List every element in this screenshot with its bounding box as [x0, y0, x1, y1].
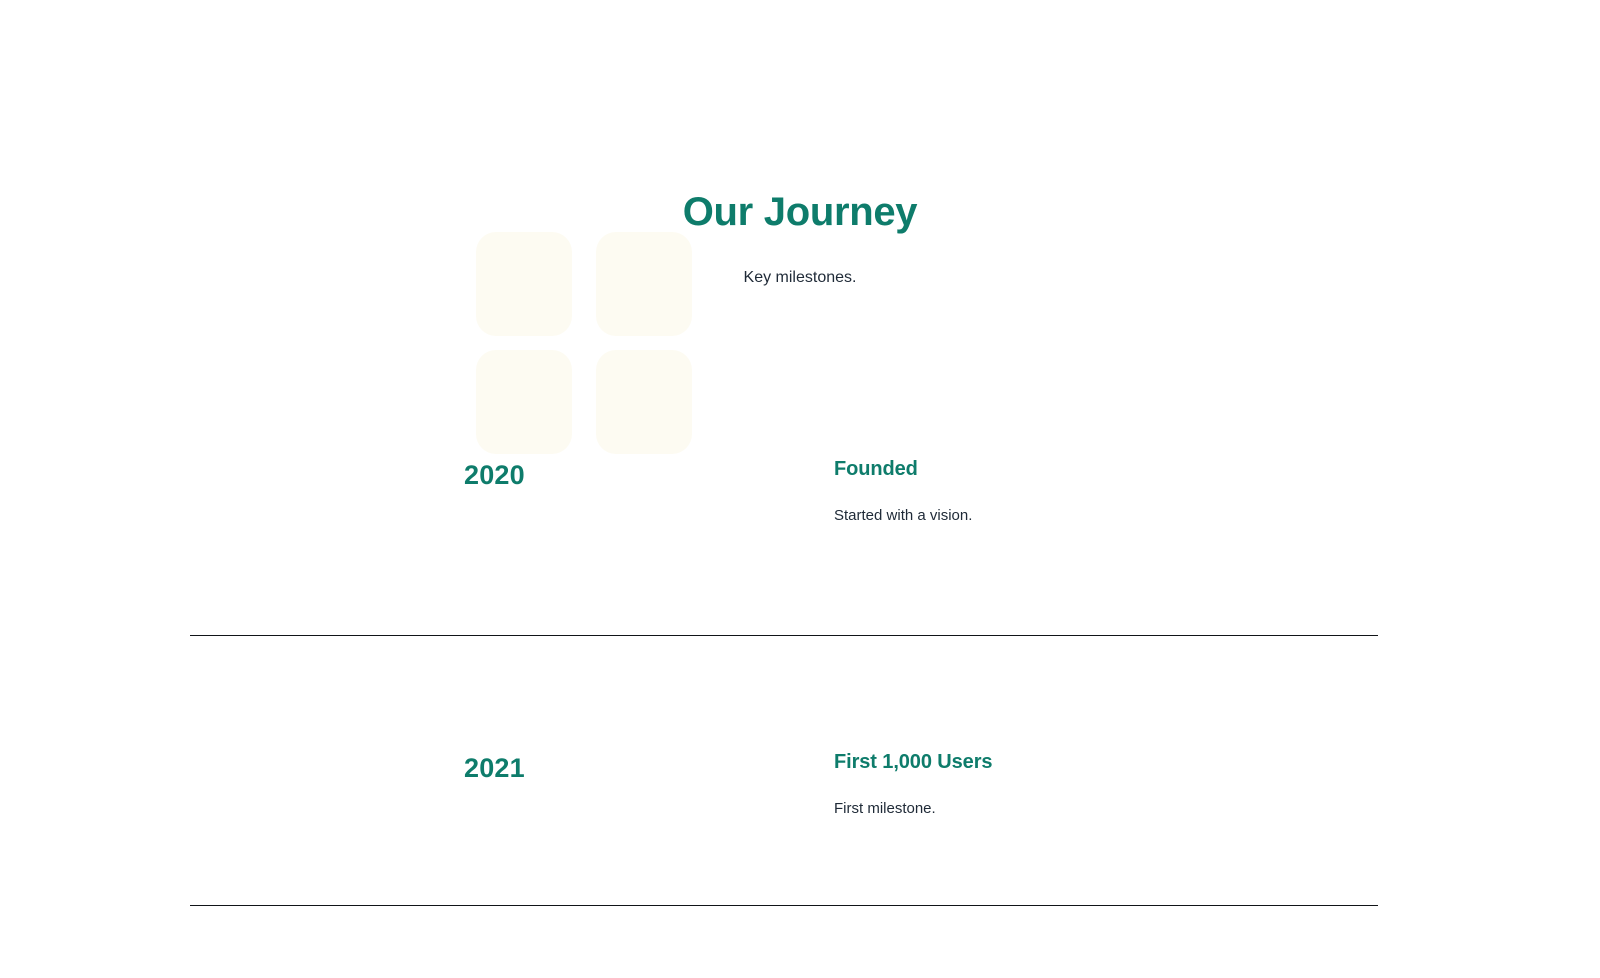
timeline-row[interactable]: 2021 First 1,000 Users First milestone.: [190, 636, 1378, 906]
timeline-heading: First 1,000 Users: [834, 748, 1378, 776]
timeline-text-column: First 1,000 Users First milestone.: [822, 636, 1378, 820]
timeline-list: 2020 Founded Started with a vision. 2021: [190, 340, 1378, 906]
page-root: Our Journey Key milestones. 2020 Founded…: [0, 0, 1600, 978]
media-tile-placeholder: [476, 350, 572, 454]
media-tile-placeholder: [596, 350, 692, 454]
media-tile-placeholder: [476, 232, 572, 336]
media-tile-grid: [476, 232, 692, 454]
timeline-text-column: Founded Started with a vision.: [822, 340, 1378, 527]
timeline-year: 2020: [464, 458, 525, 492]
journey-header: Our Journey Key milestones.: [0, 0, 1600, 289]
page-title: Our Journey: [0, 188, 1600, 236]
timeline-heading: Founded: [834, 455, 1378, 483]
timeline-row[interactable]: 2020 Founded Started with a vision.: [190, 340, 1378, 636]
timeline-description: Started with a vision.: [834, 483, 1378, 527]
media-tile-placeholder: [596, 232, 692, 336]
timeline-description: First milestone.: [834, 776, 1378, 820]
page-subtitle: Key milestones.: [0, 236, 1600, 289]
timeline-year-column: 2021: [190, 636, 630, 785]
timeline-year: 2021: [464, 751, 525, 785]
